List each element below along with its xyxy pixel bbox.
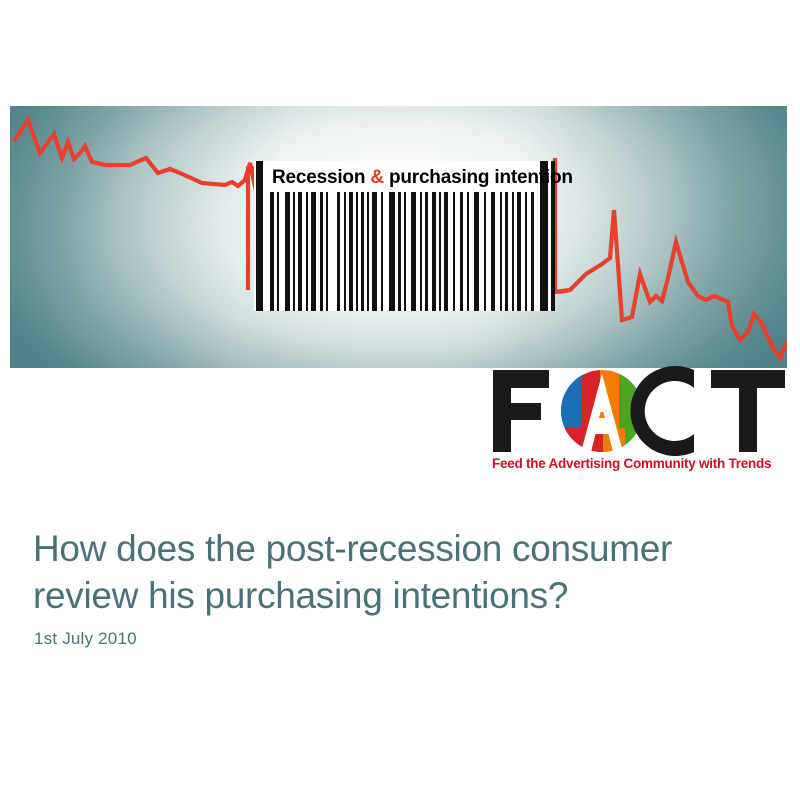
barcode-caption: Recession & purchasing intention (272, 165, 544, 191)
fact-logo-mark (489, 366, 789, 456)
fact-logo-tagline: Feed the Advertising Community with Tren… (492, 456, 788, 471)
page-title-line-1: How does the post-recession consumer (33, 525, 763, 572)
logo-letter-c (630, 366, 694, 456)
chart-line-right (559, 210, 787, 358)
barcode-caption-after: purchasing intention (384, 167, 573, 188)
chart-line-left (14, 120, 286, 208)
banner-image: Recession & purchasing intention (10, 106, 787, 368)
page-title: How does the post-recession consumer rev… (33, 525, 763, 619)
barcode-caption-ampersand: & (370, 167, 384, 188)
fact-logo: Feed the Advertising Community with Tren… (489, 366, 789, 478)
slide-root: Recession & purchasing intention (0, 0, 800, 800)
logo-letter-f (493, 370, 549, 452)
logo-letter-t (711, 370, 785, 452)
barcode-graphic: Recession & purchasing intention (248, 161, 560, 311)
barcode-caption-before: Recession (272, 167, 370, 188)
page-title-line-2: review his purchasing intentions? (33, 572, 763, 619)
presentation-date: 1st July 2010 (34, 629, 137, 649)
